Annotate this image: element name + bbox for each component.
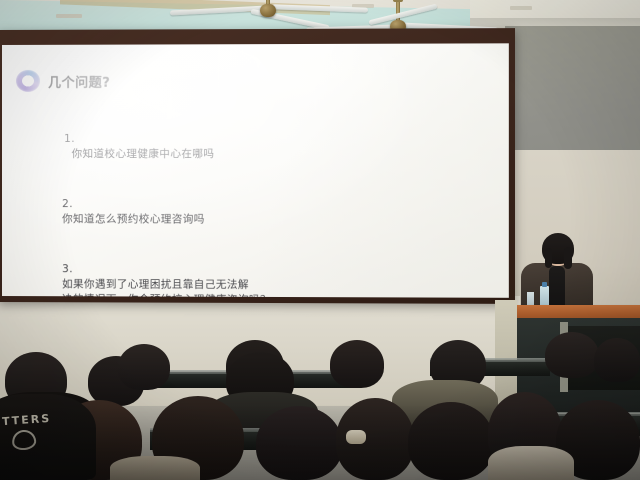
audience-head (545, 332, 599, 378)
audience-shoulders (488, 446, 574, 480)
audience-head (594, 338, 640, 382)
projection-screen-frame: 几个问题? 1. 你知道校心理健康中心在哪吗 2. 你知道怎么预约校心理咨询吗 … (0, 28, 515, 304)
audience-head (330, 340, 384, 388)
audience-shoulders (110, 456, 200, 480)
question-2-text: 你知道怎么预约校心理咨询吗 (62, 213, 205, 225)
question-3-number: 3. (62, 263, 73, 275)
slide-title-row: 几个问题? (16, 70, 110, 92)
question-1-text: 你知道校心理健康中心在哪吗 (72, 148, 215, 160)
slide-body: 1. 你知道校心理健康中心在哪吗 2. 你知道怎么预约校心理咨询吗 3. 如果你… (62, 116, 484, 297)
audience-head (118, 344, 170, 390)
speaker-hair (542, 233, 574, 264)
slide-question-1: 1. 你知道校心理健康中心在哪吗 (62, 116, 484, 162)
slide-question-3: 3. 如果你遇到了心理困扰且靠自己无法解 决的情况下，你会预约校心理健康咨询吗？ (62, 246, 484, 297)
question-3-text: 如果你遇到了心理困扰且靠自己无法解 决的情况下，你会预约校心理健康咨询吗？ (62, 278, 271, 298)
fan-rod (396, 0, 400, 22)
ceiling-vent-left (56, 14, 82, 18)
audience-head (256, 406, 342, 480)
question-1-number: 1. (64, 133, 75, 145)
question-2-number: 2. (62, 198, 73, 210)
hair-clip (346, 430, 366, 444)
slide-title: 几个问题? (48, 71, 110, 90)
ceiling-vent-right (510, 6, 532, 10)
circular-ring-logo-icon (16, 70, 40, 92)
fan-canopy (393, 0, 403, 2)
projection-screen: 几个问题? 1. 你知道校心理健康中心在哪吗 2. 你知道怎么预约校心理咨询吗 … (2, 43, 509, 297)
audience-head (408, 402, 494, 480)
slide-question-2: 2. 你知道怎么预约校心理咨询吗 (62, 182, 484, 228)
lecture-hall-scene: 几个问题? 1. 你知道校心理健康中心在哪吗 2. 你知道怎么预约校心理咨询吗 … (0, 0, 640, 480)
fan-hub (260, 4, 276, 17)
